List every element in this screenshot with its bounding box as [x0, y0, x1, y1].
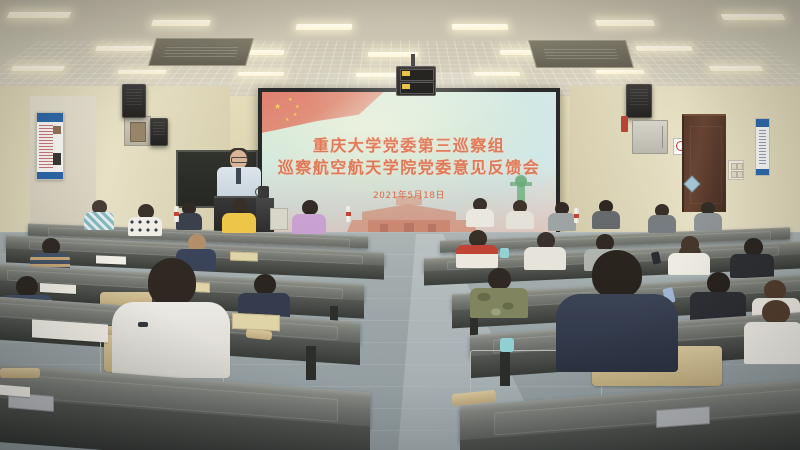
attendee-torso — [456, 245, 498, 268]
poster-photo — [53, 126, 61, 134]
attendee-torso — [222, 213, 256, 233]
attendee-navy-tee-row3 — [238, 274, 290, 318]
box-latch — [662, 126, 663, 148]
flag-star-icon: ★ — [295, 105, 299, 110]
attendee-navy-tee-foreground — [556, 250, 678, 370]
attendee-torso — [744, 322, 800, 364]
attendee-torso — [176, 213, 202, 230]
attendee-torso — [470, 288, 528, 318]
ceiling-light — [452, 24, 509, 30]
slide-title-line2: 巡察航空航天学院党委意见反馈会 — [262, 154, 556, 178]
ceiling-light — [238, 72, 285, 76]
desk-leg — [306, 346, 316, 380]
exit-door[interactable] — [682, 114, 726, 212]
attendee-torso — [112, 302, 230, 378]
attendee-black-tee-phone-row3 — [690, 272, 746, 320]
attendee-torso — [466, 209, 494, 227]
poster-footer-band — [37, 172, 63, 179]
light-switch[interactable] — [737, 163, 743, 170]
wall-speaker-right — [626, 84, 652, 118]
attendee-head — [148, 258, 196, 306]
ceiling-light — [595, 20, 655, 26]
ceiling-light — [474, 72, 521, 76]
attendee-dark-top-far — [176, 202, 202, 228]
laptop[interactable] — [656, 406, 710, 428]
attendee-head — [16, 276, 38, 297]
ceiling-light — [95, 46, 153, 51]
smartphone[interactable] — [138, 322, 148, 327]
slide-title-line1: 重庆大学党委第三巡察组 — [262, 132, 556, 156]
attendee-camouflage-tee — [470, 268, 528, 316]
flag-star-icon: ★ — [274, 104, 281, 109]
flag-star-icon: ★ — [288, 98, 292, 103]
attendee-lavender-shirt — [292, 200, 326, 232]
attendee-polka-dot-top — [128, 204, 162, 234]
glasses-icon — [231, 157, 248, 163]
ceiling-light — [721, 14, 786, 20]
water-bottle — [174, 206, 179, 222]
notebook — [230, 252, 258, 262]
attendee-yellow-shirt — [222, 198, 256, 232]
ceiling-light — [7, 12, 72, 18]
panel-window — [130, 122, 146, 142]
wall-information-poster — [36, 112, 64, 180]
projector-label — [402, 71, 410, 76]
attendee-torso — [84, 212, 114, 230]
attendee-torso — [694, 213, 722, 231]
ceiling-light — [11, 66, 65, 71]
door-panel — [690, 126, 722, 204]
attendee-head — [254, 274, 276, 295]
attendee-white-shirt-right — [466, 198, 494, 226]
attendee-head — [592, 250, 642, 298]
ceiling-light — [635, 46, 693, 51]
light-switch-panel[interactable] — [728, 160, 744, 180]
attendee-torso — [128, 217, 162, 236]
attendee-torso — [592, 211, 620, 229]
chair-armrest[interactable] — [0, 368, 40, 378]
attendee-torso — [548, 213, 576, 231]
waste-bin — [270, 208, 288, 230]
air-vent — [528, 40, 634, 68]
wall-speaker-left-lower — [150, 118, 168, 146]
flag-star-icon: ★ — [293, 113, 297, 118]
attendee-head — [764, 280, 786, 300]
light-switch[interactable] — [737, 171, 743, 178]
attendee-dark-far-right — [592, 200, 620, 228]
attendee-grey-polo — [548, 202, 576, 230]
attendee-torso — [506, 211, 534, 229]
notice-text — [759, 130, 766, 166]
ceiling-light — [295, 24, 352, 30]
projector-label — [402, 84, 410, 89]
attendee-torso — [556, 294, 678, 372]
electrical-distribution-box — [124, 116, 151, 146]
notice-header — [756, 119, 769, 127]
presenter-tie — [236, 168, 241, 184]
ceiling-light — [595, 70, 644, 74]
attendee-torso — [292, 214, 326, 234]
travel-cup — [500, 248, 509, 258]
wall-speaker-left — [122, 84, 146, 118]
slide-flag-graphic — [262, 92, 388, 134]
ceiling-light — [356, 73, 400, 77]
attendee-head — [707, 272, 730, 294]
attendee-plaid-shirt — [84, 200, 114, 228]
electrical-box-right — [632, 120, 668, 154]
attendee-white-polo-foreground — [112, 258, 230, 376]
attendee-far-right-edge — [648, 204, 676, 232]
flag-star-icon: ★ — [285, 118, 289, 123]
attendee-far-right-edge2 — [694, 202, 722, 230]
meeting-room-photo: ★ ★ ★ ★ ★ 重庆大学党委第三巡察组 巡察航空航天学院党委意见反 — [0, 0, 800, 450]
travel-cup — [500, 338, 514, 352]
attendee-red-stripe-shirt — [456, 230, 498, 266]
attendee-black-tee-phone — [730, 238, 774, 276]
ceiling-projector — [396, 66, 436, 96]
attendee-white-sleeve-foreground — [744, 300, 800, 362]
poster-header-band — [37, 113, 63, 122]
notice-footer — [756, 169, 769, 175]
notebook — [232, 313, 280, 332]
blue-wall-notice — [755, 118, 770, 176]
ceiling-light — [117, 70, 166, 74]
attendee-head — [762, 300, 790, 324]
poster-text-block — [39, 125, 53, 169]
attendee-white-shirt-right2 — [506, 200, 534, 228]
attendee-torso — [648, 215, 676, 233]
ceiling-light — [151, 20, 211, 26]
air-vent — [148, 38, 254, 66]
ceiling-light — [709, 66, 763, 71]
water-bottle — [574, 208, 579, 223]
fire-extinguisher — [621, 116, 628, 132]
water-kettle — [258, 186, 269, 198]
poster-photo — [53, 153, 61, 165]
water-bottle — [346, 206, 351, 222]
attendee-head — [488, 268, 511, 290]
paper-sheet — [40, 283, 76, 294]
